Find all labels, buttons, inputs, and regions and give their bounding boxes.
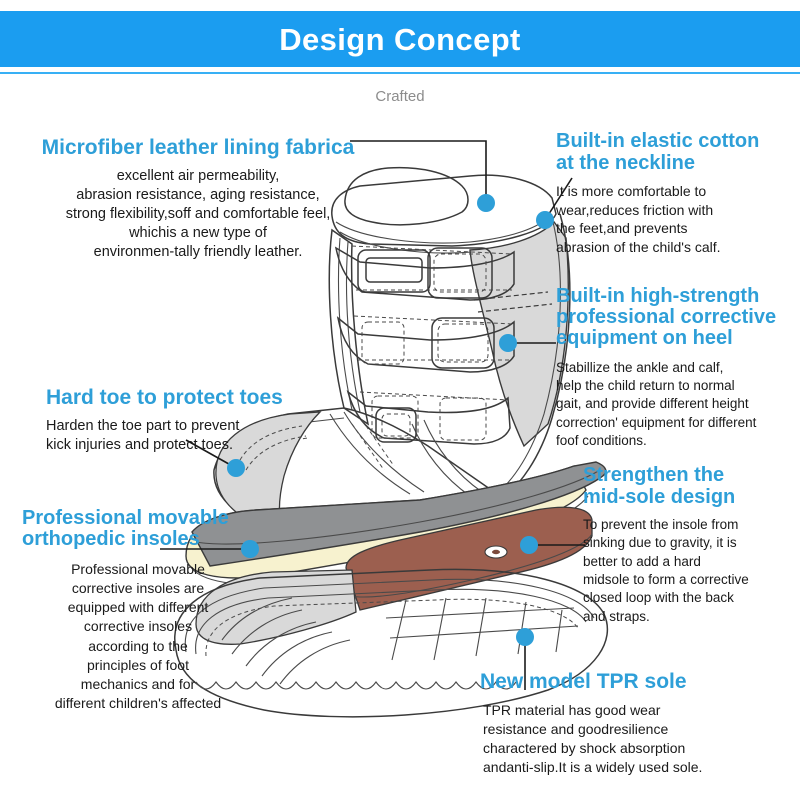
vamp-detail — [330, 408, 482, 496]
annotation-heel-equipment: Built-in high-strength professional corr… — [556, 286, 800, 450]
annotation-orthopedic-insoles-body: Professional movable corrective insoles … — [22, 560, 254, 712]
annotation-orthopedic-insoles-heading: Professional movable orthopedic insoles — [22, 508, 254, 550]
annotation-microfiber: Microfiber leather lining fabrica excell… — [28, 136, 368, 262]
annotation-mid-sole-body: To prevent the insole from sinking due t… — [583, 516, 800, 626]
annotation-elastic-cotton-heading: Built-in elastic cotton at the neckline — [556, 130, 800, 175]
strap-lower — [348, 392, 510, 444]
annotation-tpr-sole: New model TPR sole TPR material has good… — [480, 670, 800, 777]
marker-heel — [499, 334, 517, 352]
annotation-hard-toe: Hard toe to protect toes Harden the toe … — [46, 386, 346, 455]
annotation-tpr-sole-heading: New model TPR sole — [480, 670, 800, 694]
annotation-elastic-cotton-body: It is more comfortable to wear,reduces f… — [556, 182, 800, 257]
annotation-hard-toe-heading: Hard toe to protect toes — [46, 386, 346, 410]
annotation-mid-sole: Strengthen the mid-sole design To preven… — [583, 464, 800, 626]
marker-midsole — [520, 536, 538, 554]
marker-microfiber — [477, 194, 495, 212]
annotation-microfiber-heading: Microfiber leather lining fabrica — [28, 136, 368, 160]
marker-elastic — [536, 211, 554, 229]
marker-hard-toe — [227, 459, 245, 477]
design-concept-page: Design Concept Crafted — [0, 0, 800, 800]
annotation-tpr-sole-body: TPR material has good wear resistance an… — [483, 701, 800, 777]
annotation-microfiber-body: excellent air permeability, abrasion res… — [28, 167, 368, 263]
marker-tpr — [516, 628, 534, 646]
annotation-heel-equipment-heading: Built-in high-strength professional corr… — [556, 286, 800, 350]
annotation-heel-equipment-body: Stabillize the ankle and calf, help the … — [556, 359, 800, 451]
annotation-elastic-cotton: Built-in elastic cotton at the neckline … — [556, 130, 800, 257]
annotation-mid-sole-heading: Strengthen the mid-sole design — [583, 464, 800, 509]
annotation-hard-toe-body: Harden the toe part to prevent kick inju… — [46, 417, 346, 456]
annotation-orthopedic-insoles: Professional movable orthopedic insoles … — [22, 508, 254, 713]
